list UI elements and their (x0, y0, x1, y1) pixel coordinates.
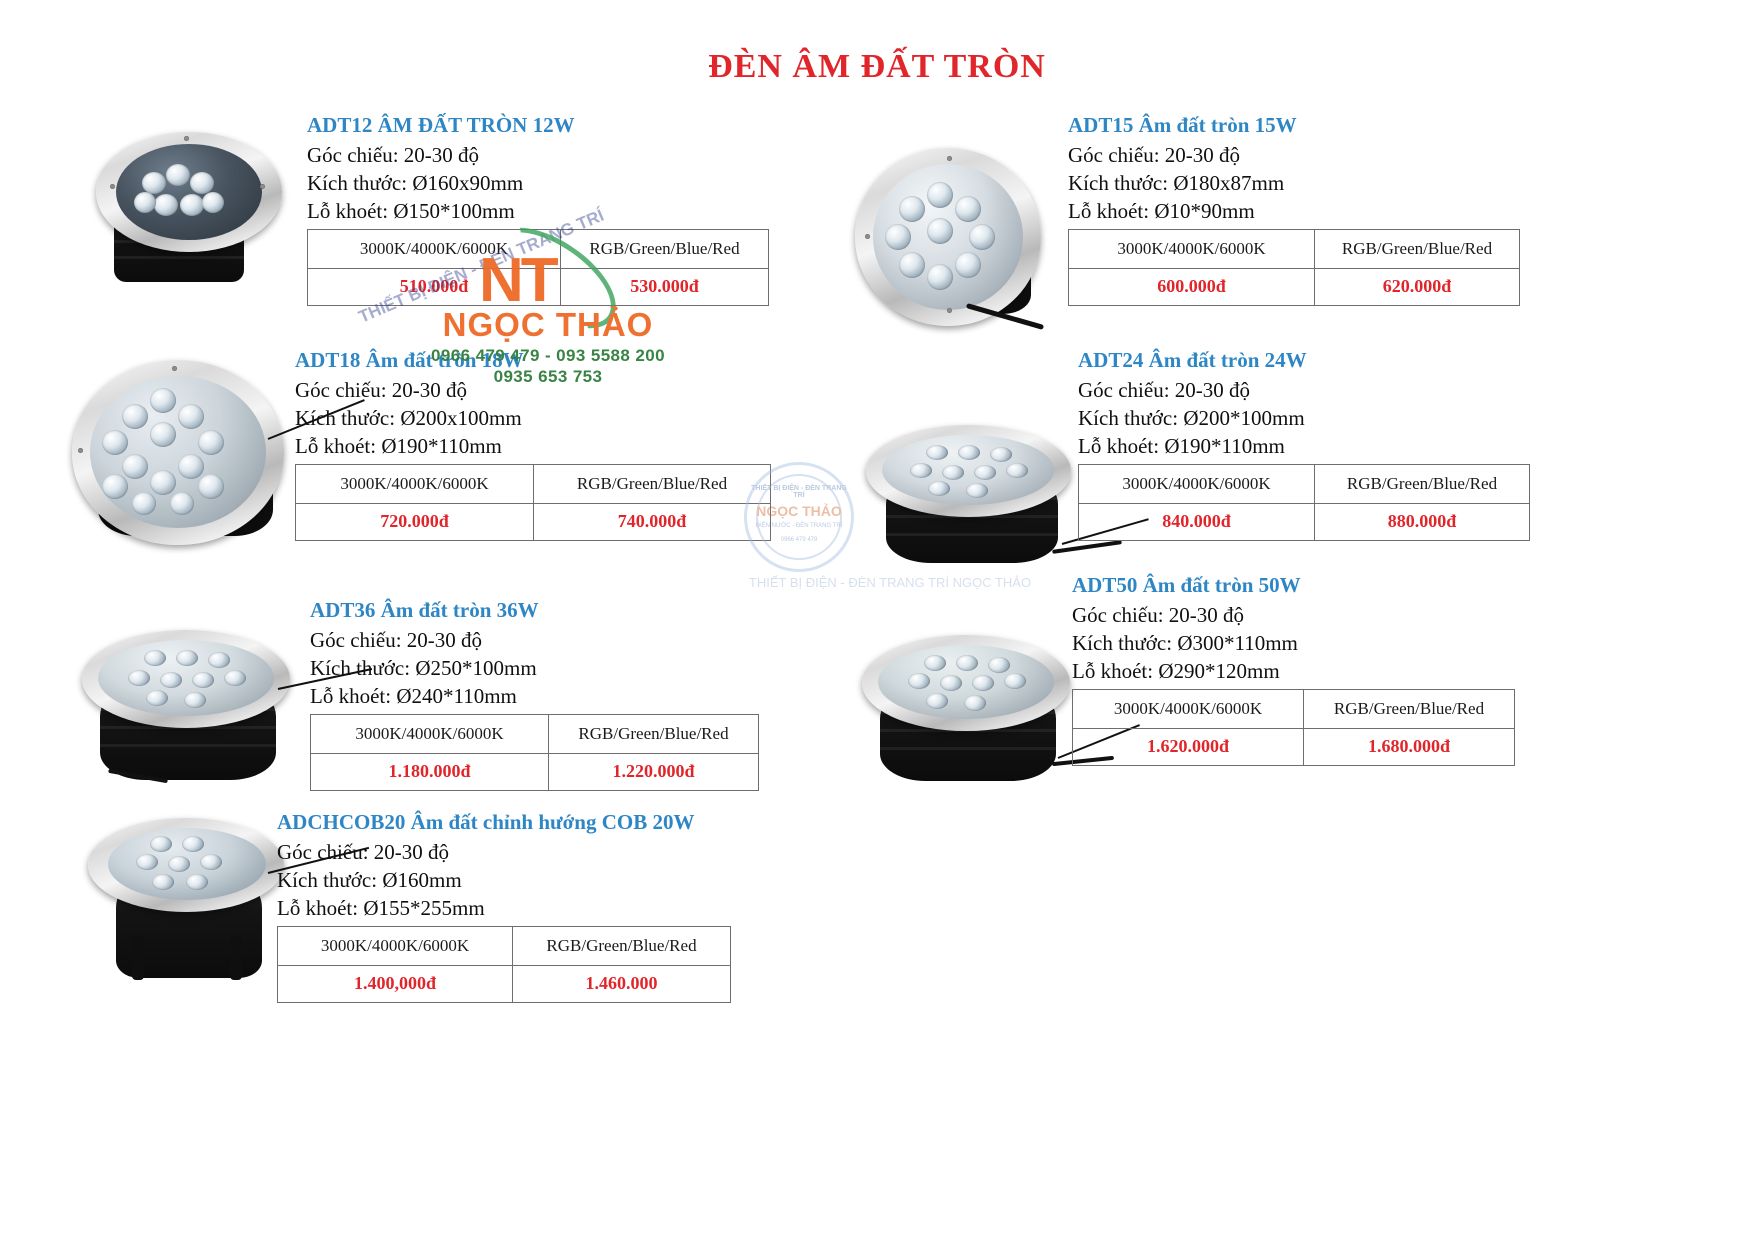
size-label: Kích thước: (310, 656, 410, 680)
header-rgb: RGB/Green/Blue/Red (1315, 464, 1530, 503)
header-rgb: RGB/Green/Blue/Red (549, 714, 759, 753)
price-cct: 1.180.000đ (311, 753, 549, 790)
price-table: 3000K/4000K/6000K RGB/Green/Blue/Red 1.1… (310, 714, 759, 791)
table-row: 3000K/4000K/6000K RGB/Green/Blue/Red (1073, 689, 1515, 728)
cutout-label: Lỗ khoét: (1068, 199, 1149, 223)
page-title: ĐÈN ÂM ĐẤT TRÒN (0, 48, 1754, 86)
product-block-adt12: ADT12 ÂM ĐẤT TRÒN 12W Góc chiếu: 20-30 đ… (307, 113, 769, 306)
size-value: Ø250*100mm (415, 656, 536, 680)
price-table: 3000K/4000K/6000K RGB/Green/Blue/Red 720… (295, 464, 771, 541)
product-beam: Góc chiếu: 20-30 độ (1068, 142, 1520, 170)
product-block-adt24: ADT24 Âm đất tròn 24W Góc chiếu: 20-30 đ… (1078, 348, 1530, 541)
watermark-brand-name: NGỌC THẢO (383, 306, 713, 344)
cutout-value: Ø10*90mm (1154, 199, 1254, 223)
cutout-value: Ø240*110mm (396, 684, 517, 708)
table-row: 3000K/4000K/6000K RGB/Green/Blue/Red (308, 229, 769, 268)
beam-label: Góc chiếu: (1072, 603, 1164, 627)
product-size: Kích thước: Ø160mm (277, 867, 731, 895)
price-table: 3000K/4000K/6000K RGB/Green/Blue/Red 1.6… (1072, 689, 1515, 766)
size-label: Kích thước: (307, 171, 407, 195)
table-row: 3000K/4000K/6000K RGB/Green/Blue/Red (278, 926, 731, 965)
product-title: ADT15 Âm đất tròn 15W (1068, 113, 1520, 138)
table-row: 840.000đ 880.000đ (1079, 503, 1530, 540)
size-value: Ø160x90mm (412, 171, 523, 195)
cutout-label: Lỗ khoét: (307, 199, 388, 223)
beam-label: Góc chiếu: (1068, 143, 1160, 167)
price-rgb: 880.000đ (1315, 503, 1530, 540)
header-rgb: RGB/Green/Blue/Red (1315, 229, 1520, 268)
price-cct: 510.000đ (308, 268, 561, 305)
product-cutout: Lỗ khoét: Ø190*110mm (1078, 433, 1530, 461)
product-cutout: Lỗ khoét: Ø155*255mm (277, 895, 731, 923)
product-block-adt15: ADT15 Âm đất tròn 15W Góc chiếu: 20-30 đ… (1068, 113, 1520, 306)
beam-value: 20-30 độ (407, 628, 482, 652)
product-cutout: Lỗ khoét: Ø190*110mm (295, 433, 771, 461)
beam-label: Góc chiếu: (307, 143, 399, 167)
table-row: 3000K/4000K/6000K RGB/Green/Blue/Red (1069, 229, 1520, 268)
size-label: Kích thước: (295, 406, 395, 430)
product-beam: Góc chiếu: 20-30 độ (1078, 377, 1530, 405)
product-size: Kích thước: Ø200*100mm (1078, 405, 1530, 433)
price-cct: 1.400,000đ (278, 965, 513, 1002)
header-rgb: RGB/Green/Blue/Red (1304, 689, 1515, 728)
size-label: Kích thước: (277, 868, 377, 892)
header-cct: 3000K/4000K/6000K (1069, 229, 1315, 268)
product-title: ADT18 Âm đất tròn 18W (295, 348, 771, 373)
header-cct: 3000K/4000K/6000K (1079, 464, 1315, 503)
product-image-adt18 (72, 360, 312, 555)
product-title: ADT24 Âm đất tròn 24W (1078, 348, 1530, 373)
table-row: 1.620.000đ 1.680.000đ (1073, 728, 1515, 765)
price-table: 3000K/4000K/6000K RGB/Green/Blue/Red 510… (307, 229, 769, 306)
price-rgb: 530.000đ (561, 268, 769, 305)
product-size: Kích thước: Ø180x87mm (1068, 170, 1520, 198)
cutout-value: Ø290*120mm (1158, 659, 1279, 683)
header-rgb: RGB/Green/Blue/Red (513, 926, 731, 965)
cutout-value: Ø190*110mm (1164, 434, 1285, 458)
product-beam: Góc chiếu: 20-30 độ (277, 839, 731, 867)
table-row: 600.000đ 620.000đ (1069, 268, 1520, 305)
product-beam: Góc chiếu: 20-30 độ (310, 627, 759, 655)
product-block-adt18: ADT18 Âm đất tròn 18W Góc chiếu: 20-30 đ… (295, 348, 771, 541)
product-title: ADT12 ÂM ĐẤT TRÒN 12W (307, 113, 769, 138)
product-cutout: Lỗ khoét: Ø290*120mm (1072, 658, 1515, 686)
size-value: Ø180x87mm (1173, 171, 1284, 195)
table-row: 720.000đ 740.000đ (296, 503, 771, 540)
product-image-adt24 (866, 425, 1081, 570)
product-size: Kích thước: Ø160x90mm (307, 170, 769, 198)
header-cct: 3000K/4000K/6000K (1073, 689, 1304, 728)
product-title: ADT36 Âm đất tròn 36W (310, 598, 759, 623)
product-image-adt36 (82, 630, 297, 785)
product-size: Kích thước: Ø250*100mm (310, 655, 759, 683)
size-value: Ø200x100mm (400, 406, 521, 430)
table-row: 1.400,000đ 1.460.000 (278, 965, 731, 1002)
header-cct: 3000K/4000K/6000K (296, 464, 534, 503)
header-cct: 3000K/4000K/6000K (308, 229, 561, 268)
product-image-adt15 (855, 148, 1065, 338)
product-size: Kích thước: Ø300*110mm (1072, 630, 1515, 658)
beam-value: 20-30 độ (392, 378, 467, 402)
beam-value: 20-30 độ (404, 143, 479, 167)
cutout-label: Lỗ khoét: (277, 896, 358, 920)
size-value: Ø160mm (382, 868, 461, 892)
beam-value: 20-30 độ (1169, 603, 1244, 627)
header-rgb: RGB/Green/Blue/Red (534, 464, 771, 503)
price-table: 3000K/4000K/6000K RGB/Green/Blue/Red 840… (1078, 464, 1530, 541)
price-rgb: 740.000đ (534, 503, 771, 540)
catalog-page: ĐÈN ÂM ĐẤT TRÒN ADT12 ÂM ĐẤT TRÒN 12W Gó… (0, 0, 1754, 1241)
size-value: Ø300*110mm (1177, 631, 1298, 655)
product-block-adt50: ADT50 Âm đất tròn 50W Góc chiếu: 20-30 đ… (1072, 573, 1515, 766)
product-cutout: Lỗ khoét: Ø240*110mm (310, 683, 759, 711)
cutout-value: Ø150*100mm (393, 199, 514, 223)
product-cutout: Lỗ khoét: Ø10*90mm (1068, 198, 1520, 226)
beam-value: 20-30 độ (1175, 378, 1250, 402)
price-rgb: 1.220.000đ (549, 753, 759, 790)
price-cct: 840.000đ (1079, 503, 1315, 540)
cutout-value: Ø155*255mm (363, 896, 484, 920)
table-row: 1.180.000đ 1.220.000đ (311, 753, 759, 790)
product-title: ADCHCOB20 Âm đất chỉnh hướng COB 20W (277, 810, 731, 835)
header-cct: 3000K/4000K/6000K (311, 714, 549, 753)
beam-label: Góc chiếu: (295, 378, 387, 402)
cutout-label: Lỗ khoét: (1078, 434, 1159, 458)
price-cct: 1.620.000đ (1073, 728, 1304, 765)
table-row: 510.000đ 530.000đ (308, 268, 769, 305)
cutout-value: Ø190*110mm (381, 434, 502, 458)
price-rgb: 1.460.000 (513, 965, 731, 1002)
table-row: 3000K/4000K/6000K RGB/Green/Blue/Red (1079, 464, 1530, 503)
product-beam: Góc chiếu: 20-30 độ (295, 377, 771, 405)
header-rgb: RGB/Green/Blue/Red (561, 229, 769, 268)
price-table: 3000K/4000K/6000K RGB/Green/Blue/Red 1.4… (277, 926, 731, 1003)
size-value: Ø200*100mm (1183, 406, 1304, 430)
product-block-adchcob20: ADCHCOB20 Âm đất chỉnh hướng COB 20W Góc… (277, 810, 731, 1003)
product-beam: Góc chiếu: 20-30 độ (1072, 602, 1515, 630)
price-rgb: 620.000đ (1315, 268, 1520, 305)
beam-value: 20-30 độ (374, 840, 449, 864)
product-title: ADT50 Âm đất tròn 50W (1072, 573, 1515, 598)
header-cct: 3000K/4000K/6000K (278, 926, 513, 965)
size-label: Kích thước: (1072, 631, 1172, 655)
product-image-adchcob20 (88, 818, 288, 983)
beam-label: Góc chiếu: (310, 628, 402, 652)
cutout-label: Lỗ khoét: (1072, 659, 1153, 683)
product-cutout: Lỗ khoét: Ø150*100mm (307, 198, 769, 226)
product-image-adt50 (862, 635, 1077, 785)
price-cct: 720.000đ (296, 503, 534, 540)
table-row: 3000K/4000K/6000K RGB/Green/Blue/Red (311, 714, 759, 753)
product-size: Kích thước: Ø200x100mm (295, 405, 771, 433)
beam-label: Góc chiếu: (1078, 378, 1170, 402)
cutout-label: Lỗ khoét: (295, 434, 376, 458)
product-beam: Góc chiếu: 20-30 độ (307, 142, 769, 170)
product-block-adt36: ADT36 Âm đất tròn 36W Góc chiếu: 20-30 đ… (310, 598, 759, 791)
beam-value: 20-30 độ (1165, 143, 1240, 167)
size-label: Kích thước: (1078, 406, 1178, 430)
beam-label: Góc chiếu: (277, 840, 369, 864)
price-rgb: 1.680.000đ (1304, 728, 1515, 765)
product-image-adt12 (92, 128, 282, 288)
price-table: 3000K/4000K/6000K RGB/Green/Blue/Red 600… (1068, 229, 1520, 306)
cutout-label: Lỗ khoét: (310, 684, 391, 708)
table-row: 3000K/4000K/6000K RGB/Green/Blue/Red (296, 464, 771, 503)
price-cct: 600.000đ (1069, 268, 1315, 305)
size-label: Kích thước: (1068, 171, 1168, 195)
